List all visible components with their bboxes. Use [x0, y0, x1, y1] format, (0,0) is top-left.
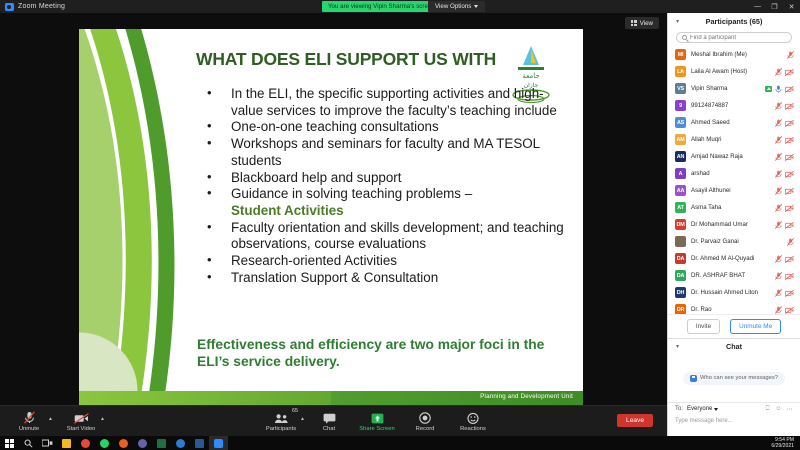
windows-taskbar: 9:54 PM 6/29/2021 [0, 436, 800, 450]
participant-name: arshad [691, 170, 770, 177]
chevron-up-icon[interactable]: ▲ [100, 416, 105, 422]
file-icon[interactable]: ⎕ [764, 406, 771, 413]
view-options-label: View Options [435, 3, 471, 10]
participant-status-icons [775, 284, 794, 302]
chevron-down-icon [714, 408, 718, 411]
participant-status-icons [775, 63, 794, 81]
participants-header-label: Participants (65) [706, 17, 763, 26]
camera-off-icon[interactable] [785, 284, 794, 302]
toolbar-chat-button[interactable]: Chat [306, 409, 352, 432]
view-button-label: View [640, 20, 653, 27]
outlook-icon[interactable] [171, 436, 190, 450]
slide-footer-text: Planning and Development Unit [480, 393, 573, 400]
record-icon [419, 409, 431, 424]
firefox-icon[interactable] [114, 436, 133, 450]
view-options-button[interactable]: View Options [428, 1, 485, 12]
camera-off-icon[interactable] [785, 301, 794, 315]
avatar: DA [675, 270, 686, 281]
participants-panel-actions: Invite Unmute Me [668, 314, 800, 338]
participant-row[interactable]: DMDr Mohammad Umar [668, 216, 800, 233]
participant-name: Dr. Parvaiz Ganai [691, 238, 782, 245]
participant-row[interactable]: ASAhmed Saeed [668, 114, 800, 131]
participant-name: Dr. Ahmed M Al-Quyadi [691, 255, 770, 262]
zoom-meeting-window: Zoom Meeting You are viewing Vipin Sharm… [0, 0, 800, 450]
meeting-toolbar: Unmute ▲ Start Video ▲ 65 Participants ▲… [0, 405, 667, 436]
participant-status-icons [775, 165, 794, 183]
camera-off-icon[interactable] [785, 182, 794, 200]
avatar: DR [675, 304, 686, 314]
participant-row[interactable]: AAAsayil Althunei [668, 182, 800, 199]
participant-row[interactable]: AMAllah Muqri [668, 131, 800, 148]
window-controls: — ❐ ✕ [749, 0, 800, 13]
chevron-down-icon[interactable]: ▾ [676, 18, 679, 25]
participant-row[interactable]: ANAmjad Nawaz Raja [668, 148, 800, 165]
slide-corner-decoration [79, 331, 169, 391]
participant-row[interactable]: MIMeshal Ibrahim (Me) [668, 46, 800, 63]
participant-status-icons [775, 250, 794, 268]
toolbar-record-button[interactable]: Record [402, 409, 448, 432]
camera-off-icon[interactable] [785, 165, 794, 183]
teams-icon[interactable] [133, 436, 152, 450]
slide-title: WHAT DOES ELI SUPPORT US WITH [196, 49, 526, 70]
chat-messages-area: Who can see your messages? [668, 354, 800, 402]
avatar: DA [675, 253, 686, 264]
mic-muted-icon[interactable] [775, 250, 782, 268]
mic-muted-icon[interactable] [775, 165, 782, 183]
chevron-down-icon[interactable]: ▾ [676, 343, 679, 350]
chat-recipient-row: To: Everyone ⎕ ☺ ⋯ [668, 402, 800, 415]
view-layout-button[interactable]: View [625, 17, 659, 29]
participant-search-box[interactable] [676, 32, 792, 43]
mic-muted-icon[interactable] [775, 267, 782, 285]
mic-on-icon[interactable] [775, 80, 782, 98]
toolbar-label: Share Screen [359, 426, 394, 432]
chevron-up-icon[interactable]: ▲ [300, 416, 305, 422]
reactions-icon [467, 409, 479, 424]
participant-row[interactable]: DHDr. Hussain Ahmed Liton [668, 284, 800, 301]
mic-muted-icon[interactable] [775, 114, 782, 132]
chat-privacy-text: Who can see your messages? [700, 375, 778, 381]
avatar: LA [675, 66, 686, 77]
mic-muted-icon[interactable] [775, 216, 782, 234]
word-icon[interactable] [190, 436, 209, 450]
participant-status-icons [775, 216, 794, 234]
participant-name: 99124874887 [691, 102, 770, 109]
avatar: AM [675, 134, 686, 145]
bullet-text: Blackboard help and support [231, 170, 401, 185]
chrome-icon[interactable] [76, 436, 95, 450]
toolbar-unmute-button[interactable]: Unmute ▲ [6, 409, 52, 432]
svg-text:جامعة: جامعة [522, 72, 539, 80]
mic-muted-icon[interactable] [775, 199, 782, 217]
clock-date: 6/29/2021 [771, 443, 794, 449]
toolbar-label: Start Video [67, 426, 96, 432]
participant-name: Dr. Hussain Ahmed Liton [691, 289, 770, 296]
maximize-button[interactable]: ❐ [766, 0, 783, 13]
bullet-text: Faculty orientation and skills developme… [231, 220, 564, 252]
avatar: A [675, 168, 686, 179]
chat-icon [323, 409, 336, 424]
chat-header-label: Chat [726, 342, 742, 351]
list-item: Blackboard help and support [197, 170, 567, 187]
participants-count-badge: 65 [292, 408, 298, 414]
toolbar-label: Participants [266, 426, 296, 432]
slide-closing-statement: Effectiveness and efficiency are two maj… [197, 336, 567, 370]
window-titlebar: Zoom Meeting You are viewing Vipin Sharm… [0, 0, 800, 13]
list-item: Workshops and seminars for faculty and M… [197, 136, 567, 169]
camera-off-icon[interactable] [785, 131, 794, 149]
task-view-icon[interactable] [38, 436, 57, 450]
participants-list[interactable]: MIMeshal Ibrahim (Me)LALaila Al Awam (Ho… [668, 46, 800, 314]
camera-off-icon[interactable] [785, 250, 794, 268]
participant-name: Vipin Sharma [691, 85, 760, 92]
search-icon [682, 35, 687, 40]
file-explorer-icon[interactable] [57, 436, 76, 450]
participant-name: Laila Al Awam (Host) [691, 68, 770, 75]
list-item: Research-oriented Activities [197, 253, 567, 270]
participant-row[interactable]: ATAsma Taha [668, 199, 800, 216]
mic-muted-icon[interactable] [787, 46, 794, 64]
toolbar-participants-button[interactable]: 65 Participants ▲ [258, 409, 304, 432]
toolbar-label: Unmute [19, 426, 39, 432]
minimize-button[interactable]: — [749, 0, 766, 13]
camera-off-icon[interactable] [785, 199, 794, 217]
participant-row[interactable]: VSVipin Sharma [668, 80, 800, 97]
participant-name: Allah Muqri [691, 136, 770, 143]
participant-row[interactable]: DADR. ASHRAF BHAT [668, 267, 800, 284]
participant-name: DR. ASHRAF BHAT [691, 272, 770, 279]
participant-status-icons [775, 199, 794, 217]
participants-panel-header: ▾ Participants (65) [668, 13, 800, 30]
chevron-up-icon[interactable]: ▲ [48, 416, 53, 422]
list-item: Guidance in solving teaching problems – … [197, 186, 567, 219]
mic-muted-icon[interactable] [787, 233, 794, 251]
camera-off-icon[interactable] [785, 216, 794, 234]
toolbar-share-screen-button[interactable]: Share Screen [354, 409, 400, 432]
close-button[interactable]: ✕ [783, 0, 800, 13]
toolbar-label: Record [416, 426, 435, 432]
bullet-text: In the ELI, the specific supporting acti… [231, 86, 557, 118]
zoom-icon[interactable] [209, 436, 228, 450]
list-item: In the ELI, the specific supporting acti… [197, 86, 567, 119]
search-input[interactable] [690, 35, 786, 41]
avatar: AS [675, 117, 686, 128]
participant-status-icons [787, 233, 794, 251]
slide-footer-bar: Planning and Development Unit [79, 391, 583, 405]
sharing-banner-text: You are viewing Vipin Sharma's screen [328, 3, 435, 10]
chat-recipient-value: Everyone [687, 406, 712, 412]
participant-row[interactable]: DRDr. Rao [668, 301, 800, 314]
whatsapp-icon[interactable] [95, 436, 114, 450]
mic-muted-icon[interactable] [775, 148, 782, 166]
participant-status-icons [775, 267, 794, 285]
toolbar-label: Chat [323, 426, 335, 432]
video-off-icon [74, 409, 89, 424]
camera-off-icon[interactable] [785, 80, 794, 98]
toolbar-start-video-button[interactable]: Start Video ▲ [58, 409, 104, 432]
participant-row[interactable]: DADr. Ahmed M Al-Quyadi [668, 250, 800, 267]
invite-button[interactable]: Invite [687, 319, 720, 334]
chat-panel-header: ▾ Chat [668, 338, 800, 354]
excel-icon[interactable] [152, 436, 171, 450]
list-item: One-on-one teaching consultations [197, 119, 567, 136]
slide-bullet-list: In the ELI, the specific supporting acti… [197, 86, 567, 286]
avatar: MI [675, 49, 686, 60]
avatar: DM [675, 219, 686, 230]
participant-row[interactable]: 999124874887 [668, 97, 800, 114]
participant-name: Asma Taha [691, 204, 770, 211]
mic-muted-icon[interactable] [775, 301, 782, 315]
leave-meeting-button[interactable]: Leave [617, 414, 653, 427]
participant-name: Dr. Rao [691, 306, 770, 313]
participant-status-icons [775, 131, 794, 149]
avatar: VS [675, 83, 686, 94]
chat-message-input[interactable]: Type message here... [668, 415, 800, 427]
footer-light-band [79, 391, 331, 405]
avatar: AN [675, 151, 686, 162]
bullet-text: Guidance in solving teaching problems – [231, 186, 472, 201]
participant-status-icons [775, 301, 794, 315]
window-title: Zoom Meeting [18, 3, 65, 10]
bullet-text: Workshops and seminars for faculty and M… [231, 136, 540, 168]
presentation-slide: WHAT DOES ELI SUPPORT US WITH جامعة جازا… [79, 29, 583, 405]
participant-status-icons [787, 46, 794, 64]
participant-row[interactable]: Aarshad [668, 165, 800, 182]
avatar: DH [675, 287, 686, 298]
taskbar-clock[interactable]: 9:54 PM 6/29/2021 [771, 436, 794, 450]
chat-recipient-select[interactable]: Everyone [687, 406, 718, 412]
screen-share-indicator-icon [765, 86, 772, 92]
participant-row[interactable]: LALaila Al Awam (Host) [668, 63, 800, 80]
mic-muted-icon[interactable] [775, 97, 782, 115]
mic-muted-icon[interactable] [775, 131, 782, 149]
participant-status-icons [775, 182, 794, 200]
camera-off-icon[interactable] [785, 148, 794, 166]
bullet-text: Research-oriented Activities [231, 253, 397, 268]
participant-name: Amjad Nawaz Raja [691, 153, 770, 160]
camera-off-icon[interactable] [785, 63, 794, 81]
bullet-text: Translation Support & Consultation [231, 270, 438, 285]
search-icon[interactable] [19, 436, 38, 450]
avatar: 9 [675, 100, 686, 111]
avatar: AT [675, 202, 686, 213]
participant-status-icons [775, 97, 794, 115]
bullet-text: One-on-one teaching consultations [231, 119, 439, 134]
grid-icon [631, 20, 637, 26]
chevron-down-icon [474, 5, 478, 8]
participant-name: Asayil Althunei [691, 187, 770, 194]
bullet-highlight: Student Activities [231, 203, 344, 218]
start-icon[interactable] [0, 436, 19, 450]
mic-muted-icon[interactable] [775, 63, 782, 81]
toolbar-reactions-button[interactable]: Reactions [450, 409, 496, 432]
mic-muted-icon[interactable] [775, 284, 782, 302]
participants-icon [274, 409, 289, 424]
participant-status-icons [775, 148, 794, 166]
participant-status-icons [765, 80, 794, 98]
mic-muted-icon [24, 409, 35, 424]
participant-name: Meshal Ibrahim (Me) [691, 51, 782, 58]
emoji-icon[interactable]: ☺ [775, 406, 782, 413]
camera-off-icon[interactable] [785, 97, 794, 115]
mic-muted-icon[interactable] [775, 182, 782, 200]
participant-name: Ahmed Saeed [691, 119, 770, 126]
toolbar-label: Reactions [460, 426, 486, 432]
chat-privacy-note[interactable]: Who can see your messages? [683, 372, 785, 385]
chat-to-label: To: [675, 406, 683, 412]
avatar [675, 236, 686, 247]
right-side-panel: ▾ Participants (65) MIMeshal Ibrahim (Me… [667, 13, 800, 436]
shared-screen-stage: View WHAT DOES ELI SUPPORT US WITH جامعة… [0, 13, 667, 405]
unmute-me-button[interactable]: Unmute Me [730, 319, 781, 334]
list-item: Faculty orientation and skills developme… [197, 220, 567, 253]
camera-off-icon[interactable] [785, 267, 794, 285]
more-icon[interactable]: ⋯ [786, 406, 793, 413]
screen-sharing-banner: You are viewing Vipin Sharma's screen [322, 1, 441, 12]
participant-status-icons [775, 114, 794, 132]
list-item: Translation Support & Consultation [197, 270, 567, 287]
info-shield-icon [690, 375, 697, 382]
camera-off-icon[interactable] [785, 114, 794, 132]
participant-name: Dr Mohammad Umar [691, 221, 770, 228]
share-screen-icon [371, 409, 384, 424]
participant-row[interactable]: Dr. Parvaiz Ganai [668, 233, 800, 250]
avatar: AA [675, 185, 686, 196]
zoom-app-icon [5, 3, 14, 11]
